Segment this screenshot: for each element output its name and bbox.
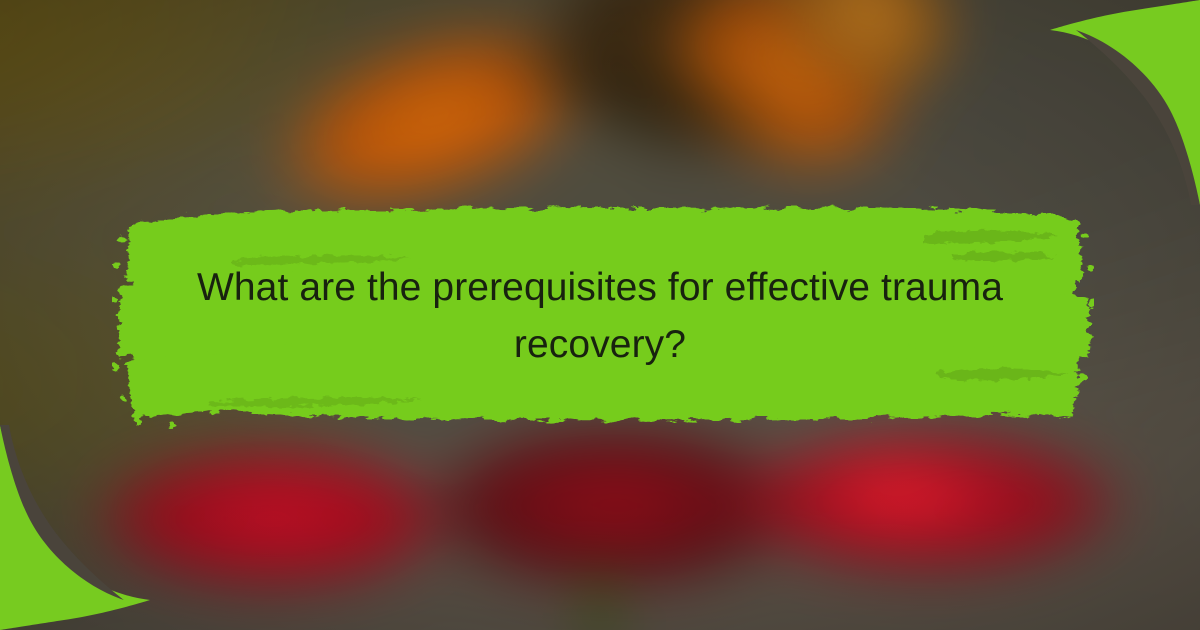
card-headline: What are the prerequisites for effective… xyxy=(150,260,1050,373)
social-share-card: What are the prerequisites for effective… xyxy=(0,0,1200,630)
